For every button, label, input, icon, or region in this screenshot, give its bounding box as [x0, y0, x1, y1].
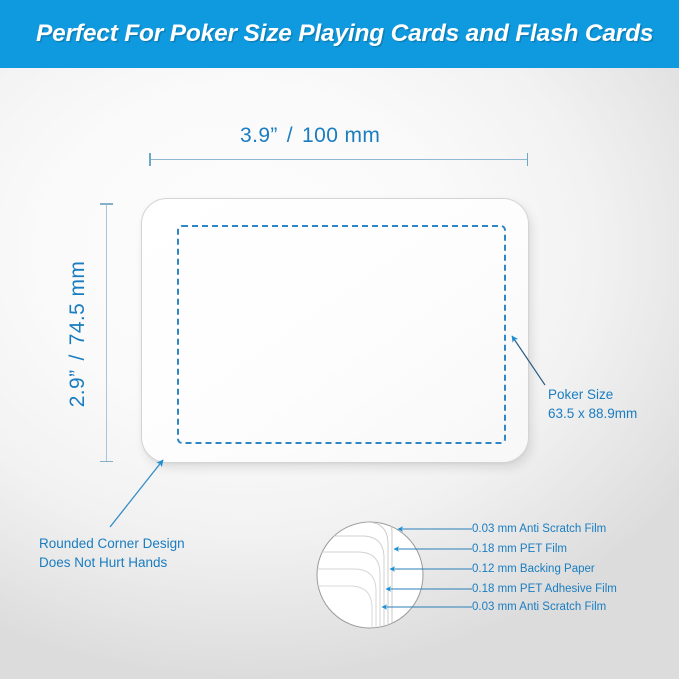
layer-label-1: 0.03 mm Anti Scratch Film: [472, 523, 606, 535]
width-dimension-line: [149, 159, 528, 160]
layer-label-4: 0.18 mm PET Adhesive Film: [472, 583, 617, 595]
rounded-corner-callout: Rounded Corner Design Does Not Hurt Hand…: [39, 534, 185, 572]
width-inches-value: 3.9”: [240, 124, 278, 147]
product-infographic: Perfect For Poker Size Playing Cards and…: [0, 0, 679, 679]
banner-title: Perfect For Poker Size Playing Cards and…: [36, 20, 653, 48]
layer-label-3: 0.12 mm Backing Paper: [472, 563, 595, 575]
layer-label-2: 0.18 mm PET Film: [472, 543, 567, 555]
width-separator: /: [278, 124, 302, 147]
height-dimension-label: 2.9”/74.5 mm: [58, 224, 98, 444]
layer-diagram-circle: [317, 522, 423, 628]
rounded-corner-callout-line2: Does Not Hurt Hands: [39, 553, 185, 572]
width-metric-value: 100 mm: [302, 124, 380, 147]
rounded-corner-callout-line1: Rounded Corner Design: [39, 534, 185, 553]
height-dimension-line: [106, 203, 107, 462]
height-metric-value: 74.5 mm: [66, 261, 89, 346]
layer-label-5: 0.03 mm Anti Scratch Film: [472, 601, 606, 613]
height-inches-value: 2.9”: [66, 369, 89, 407]
header-banner: Perfect For Poker Size Playing Cards and…: [0, 0, 679, 68]
dashed-inner-boundary: [177, 225, 506, 444]
card-illustration: [141, 198, 529, 463]
poker-size-callout-line1: Poker Size: [548, 385, 637, 404]
poker-size-callout: Poker Size 63.5 x 88.9mm: [548, 385, 637, 423]
poker-size-callout-line2: 63.5 x 88.9mm: [548, 404, 637, 423]
height-separator: /: [66, 345, 89, 369]
width-dimension-label: 3.9”/100 mm: [240, 124, 380, 148]
layer-structure-diagram: 0.03 mm Anti Scratch Film 0.18 mm PET Fi…: [314, 516, 664, 634]
